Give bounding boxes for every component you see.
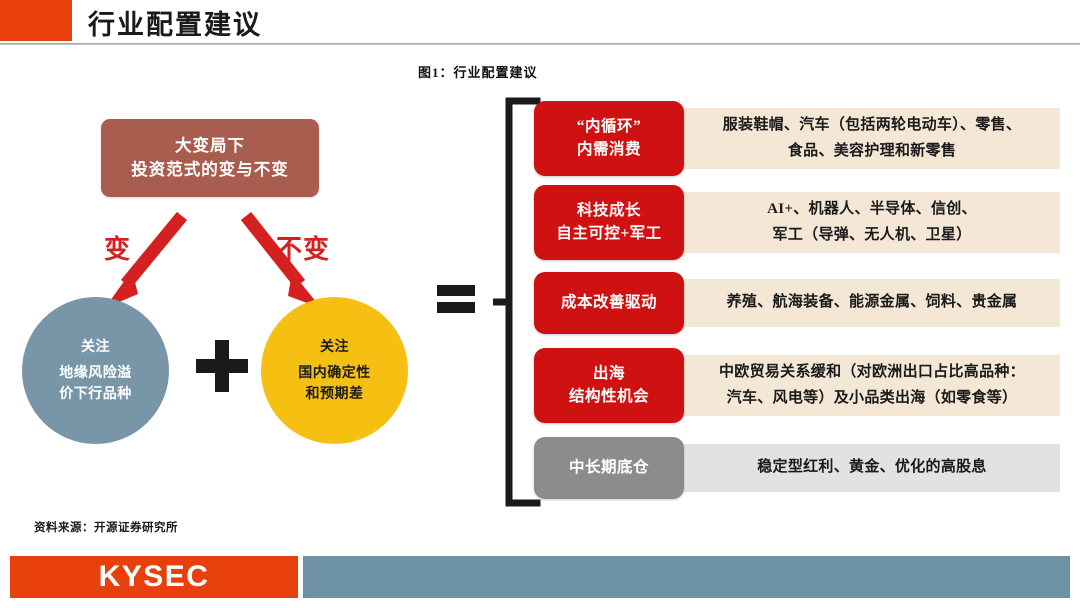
row-tag: 科技成长 自主可控+军工 <box>534 185 684 260</box>
row-body: AI+、机器人、半导体、信创、 军工（导弹、无人机、卫星） <box>684 192 1060 253</box>
header-divider <box>0 43 1080 45</box>
row-tag-line2: 结构性机会 <box>569 386 649 408</box>
row-body-line1: 中欧贸易关系缓和（对欧洲出口占比高品种： <box>719 360 1025 386</box>
page-title: 行业配置建议 <box>88 3 262 42</box>
table-row: 中欧贸易关系缓和（对欧洲出口占比高品种： 汽车、风电等）及小品类出海（如零食等）… <box>534 348 1060 423</box>
row-body-line1: 养殖、航海装备、能源金属、饲料、贵金属 <box>727 290 1018 316</box>
table-row: AI+、机器人、半导体、信创、 军工（导弹、无人机、卫星） 科技成长 自主可控+… <box>534 185 1060 260</box>
row-tag-line1: 成本改善驱动 <box>561 292 657 314</box>
row-tag: 成本改善驱动 <box>534 272 684 334</box>
circle-right-line2: 国内确定性 <box>298 363 371 384</box>
table-row: 稳定型红利、黄金、优化的高股息 中长期底仓 <box>534 437 1060 499</box>
concept-box-main: 大变局下 投资范式的变与不变 <box>101 119 319 197</box>
concept-box-line1: 大变局下 <box>175 134 245 158</box>
row-body-line1: 稳定型红利、黄金、优化的高股息 <box>757 455 987 481</box>
circle-left-line3: 价下行品种 <box>59 384 132 405</box>
footer-logo-block: KYSEC <box>10 556 298 598</box>
row-tag: “内循环” 内需消费 <box>534 101 684 176</box>
row-tag-line1: 科技成长 <box>577 200 641 222</box>
slide-canvas: 行业配置建议 图1：行业配置建议 大变局下 投资范式的变与不变 变 不变 关注 … <box>0 0 1080 608</box>
plus-icon <box>196 340 248 392</box>
row-body: 养殖、航海装备、能源金属、饲料、贵金属 <box>684 279 1060 327</box>
concept-box-line2: 投资范式的变与不变 <box>131 158 289 182</box>
source-note: 资料来源：开源证券研究所 <box>34 519 178 535</box>
arrow-label-change: 变 <box>104 229 131 266</box>
row-body-line2: 汽车、风电等）及小品类出海（如零食等） <box>727 386 1018 412</box>
arrow-label-unchanged: 不变 <box>276 229 330 266</box>
row-tag-line2: 自主可控+军工 <box>556 223 661 245</box>
table-row: 服装鞋帽、汽车（包括两轮电动车）、零售、 食品、美容护理和新零售 “内循环” 内… <box>534 101 1060 176</box>
row-tag-line1: 出海 <box>593 363 625 385</box>
row-body-line1: AI+、机器人、半导体、信创、 <box>767 197 977 223</box>
header-accent-block <box>0 0 72 41</box>
row-body: 中欧贸易关系缓和（对欧洲出口占比高品种： 汽车、风电等）及小品类出海（如零食等） <box>684 355 1060 416</box>
equals-icon <box>437 283 475 315</box>
row-body-line1: 服装鞋帽、汽车（包括两轮电动车）、零售、 <box>723 113 1022 139</box>
row-tag-line1: 中长期底仓 <box>569 457 649 479</box>
circle-geopolitical-risk: 关注 地缘风险溢 价下行品种 <box>22 297 169 444</box>
row-body: 稳定型红利、黄金、优化的高股息 <box>684 444 1060 492</box>
row-body-line2: 食品、美容护理和新零售 <box>788 139 956 165</box>
row-tag-line2: 内需消费 <box>577 139 641 161</box>
circle-left-line2: 地缘风险溢 <box>59 363 132 384</box>
row-body-line2: 军工（导弹、无人机、卫星） <box>773 223 972 249</box>
circle-right-line1: 关注 <box>320 337 349 358</box>
footer-bar <box>303 556 1070 598</box>
row-tag: 中长期底仓 <box>534 437 684 499</box>
row-tag-line1: “内循环” <box>577 116 642 138</box>
table-row: 养殖、航海装备、能源金属、饲料、贵金属 成本改善驱动 <box>534 272 1060 334</box>
brand-logo: KYSEC <box>99 560 210 594</box>
circle-left-line1: 关注 <box>81 337 110 358</box>
row-tag: 出海 结构性机会 <box>534 348 684 423</box>
circle-right-line3: 和预期差 <box>306 384 364 405</box>
circle-domestic-certainty: 关注 国内确定性 和预期差 <box>261 297 408 444</box>
figure-caption: 图1：行业配置建议 <box>418 62 538 81</box>
row-body: 服装鞋帽、汽车（包括两轮电动车）、零售、 食品、美容护理和新零售 <box>684 108 1060 169</box>
